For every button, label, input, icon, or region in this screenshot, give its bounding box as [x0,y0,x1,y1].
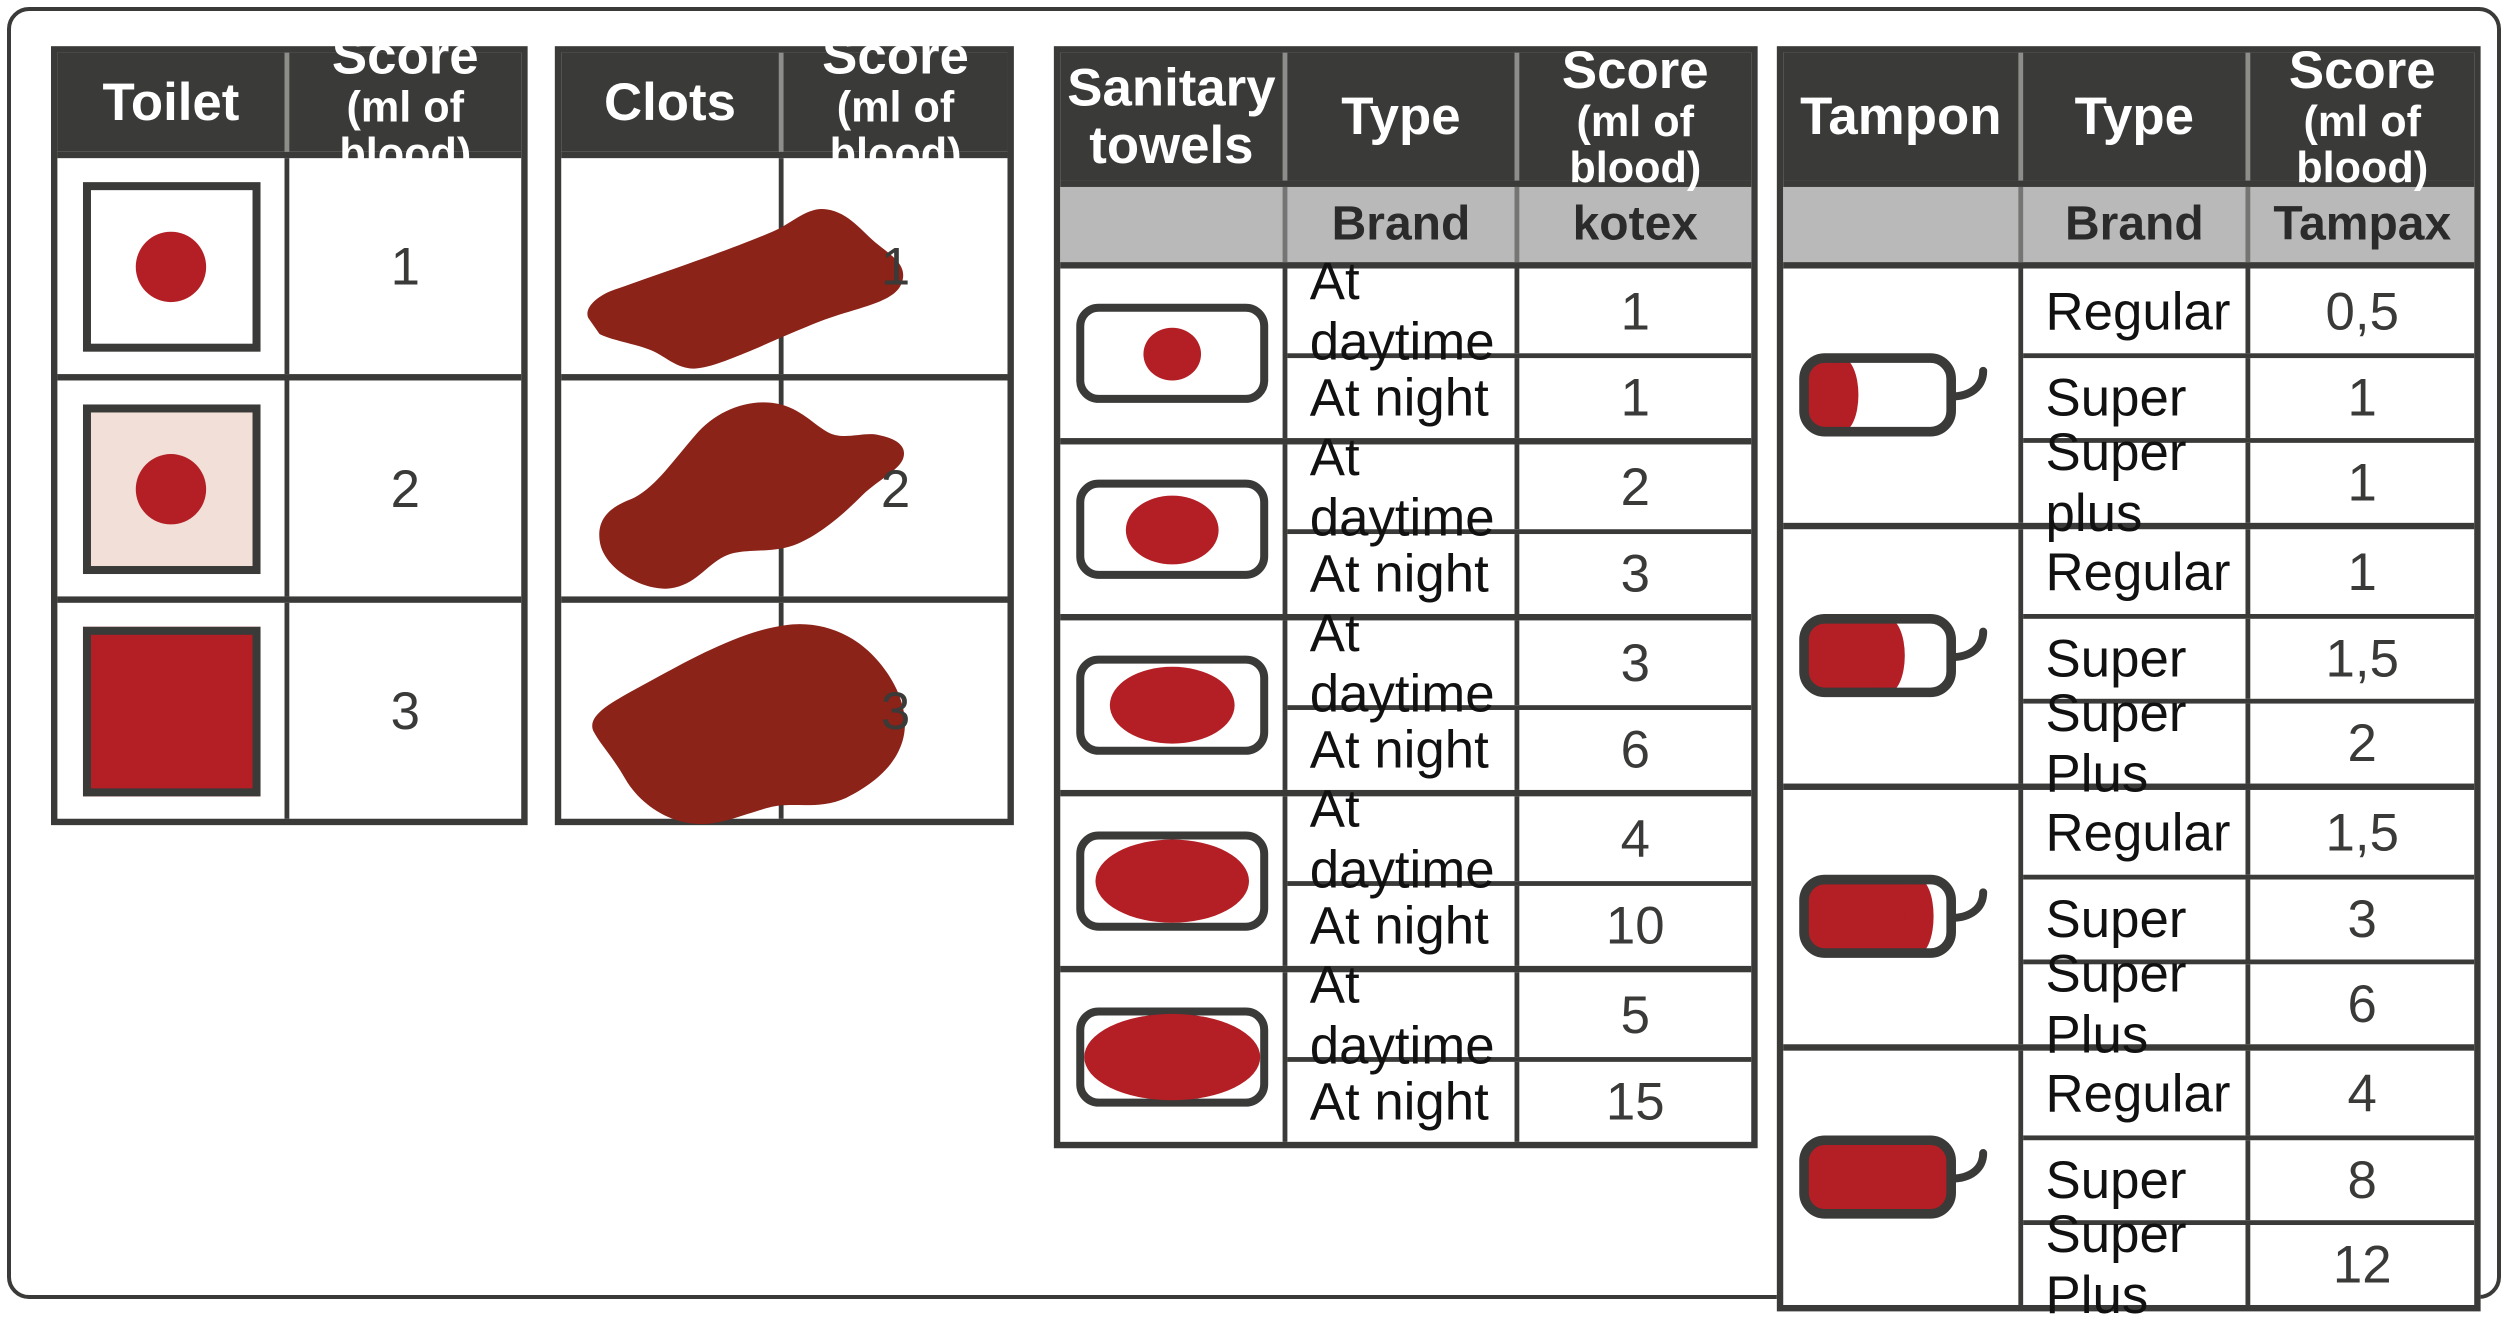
score-value: 2 [1621,456,1650,517]
score-value: 8 [2348,1150,2377,1211]
pad-icon-cell [1060,444,1287,614]
tampon-icon-cell [1783,269,2023,523]
score-value: 15 [1606,1071,1665,1132]
tampon-type-cell: Regular [2023,790,2250,875]
tampon-subheader-brand-label: Brand [2023,187,2250,262]
toilet-bowl-medium-icon [82,404,260,574]
toilet-table-body: 1 2 3 [57,152,521,819]
score-value: 1 [1621,368,1650,429]
type-value: Super [2046,628,2187,689]
table-row: At daytime 5 [1287,972,1751,1057]
tampon-score-cell: 6 [2250,964,2474,1044]
type-value: At night [1310,368,1489,429]
table-row: At night 15 [1287,1057,1751,1142]
toilet-score-cell: 2 [289,380,521,596]
tampon-level-4-icon [1797,1130,2005,1226]
score-value: 6 [2348,974,2377,1035]
score-value: 2 [881,458,910,519]
type-value: At daytime [1310,426,1515,548]
tampon-type-cell: Regular [2023,1051,2250,1136]
tampon-header-cell: Tampon [1783,53,2023,181]
towels-type-header-title: Type [1341,88,1460,145]
tampon-header-title: Tampon [1800,88,2001,145]
tampon-score-cell: 8 [2250,1140,2474,1220]
tampon-type-cell: Regular [2023,269,2250,354]
pictorial-blood-assessment-chart: Toilet Score (ml of blood) 1 [7,7,2501,1299]
tampon-level-3-icon [1797,869,2005,965]
score-value: 1 [1621,281,1650,342]
tampon-score-cell: 1 [2250,529,2474,614]
towels-table-header: Sanitary towels Type Score (ml of blood) [1060,53,1751,181]
clots-score-cell: 1 [784,158,1008,374]
towels-score-header-subtitle: (ml of blood) [1526,98,1745,191]
sanitary-pad-level-3-icon [1075,656,1267,755]
type-value: Super [2046,368,2187,429]
type-value: At night [1310,1071,1489,1132]
type-value: Super Plus [2046,683,2246,805]
table-row: 1 [561,152,1007,374]
table-row: Super Plus 2 [2023,699,2474,784]
type-value: Super Plus [2046,944,2246,1066]
toilet-icon-cell [57,603,289,819]
table-row: Regular 4 [2023,1051,2474,1136]
score-value: 5 [1621,984,1650,1045]
tampon-type-cell: Super Plus [2023,964,2250,1044]
toilet-icon-cell [57,380,289,596]
towels-type-header-cell: Type [1287,53,1519,181]
tampon-score-cell: 12 [2250,1225,2474,1305]
clots-table-header: Clots Score (ml of blood) [561,53,1007,152]
towels-type-cell: At daytime [1287,444,1519,529]
type-value: Super [2046,889,2187,950]
table-row: Regular 1,5 [2023,790,2474,875]
tampon-icon-cell [1783,529,2023,783]
toilet-icon-cell [57,158,289,374]
clot-icon-cell [561,380,783,596]
table-row: Regular 1 [2023,529,2474,614]
table-row: At daytime 1 [1287,269,1751,354]
towels-type-cell: At daytime [1287,620,1519,705]
towels-score-header-cell: Score (ml of blood) [1519,53,1751,181]
blood-blob-icon [1083,1014,1259,1100]
tampon-level-1-icon [1797,348,2005,444]
towels-score-cell: 3 [1519,534,1751,614]
towels-header-title2: towels [1089,117,1253,174]
type-value: Regular [2046,541,2231,602]
tampon-table-body: Regular 0,5 Super 1 [1783,262,2474,1305]
score-value: 3 [1621,544,1650,605]
table-row: Super plus 1 [2023,438,2474,523]
score-value: 10 [1606,896,1665,957]
table-row: 2 [57,374,521,596]
clots-score-cell: 2 [784,380,1008,596]
tampon-table-header: Tampon Type Score (ml of blood) [1783,53,2474,181]
clot-icon-cell [561,158,783,374]
score-value: 1,5 [2326,628,2399,689]
towels-score-cell: 3 [1519,620,1751,705]
towels-score-cell: 4 [1519,796,1751,881]
score-value: 1 [2348,368,2377,429]
score-value: 2 [2348,713,2377,774]
tampon-score-cell: 1 [2250,358,2474,438]
tampon-score-header-cell: Score (ml of blood) [2250,53,2474,181]
score-value: 3 [2348,889,2377,950]
tampon-type-header-cell: Type [2023,53,2250,181]
clots-table-body: 1 2 [561,152,1007,819]
score-value: 2 [391,458,420,519]
type-value: At night [1310,896,1489,957]
score-value: 1 [2348,541,2377,602]
type-value: At daytime [1310,250,1515,372]
tampon-type-cell: Super plus [2023,443,2250,523]
tampon-group: Regular 0,5 Super 1 [1783,262,2474,523]
towels-type-cell: At daytime [1287,796,1519,881]
table-row: Super Plus 12 [2023,1220,2474,1305]
towels-type-cell: At daytime [1287,269,1519,354]
score-value: 1,5 [2326,802,2399,863]
tampon-type-cell: Super Plus [2023,704,2250,784]
tampon-group: Regular 1 Super 1,5 [1783,523,2474,784]
blood-blob-icon [1143,327,1201,380]
towels-subheader-brand-value: kotex [1519,187,1751,262]
type-value: At daytime [1310,602,1515,724]
table-row: Regular 0,5 [2023,269,2474,354]
table-row: 3 [561,596,1007,818]
tampon-table: Tampon Type Score (ml of blood) Brand Ta… [1777,46,2481,1311]
toilet-table: Toilet Score (ml of blood) 1 [51,46,528,825]
tampon-score-cell: 4 [2250,1051,2474,1136]
toilet-header-cell: Toilet [57,53,289,152]
pad-icon-cell [1060,269,1287,439]
score-value: 0,5 [2326,281,2399,342]
blood-blob-icon [1109,667,1234,744]
towels-group: At daytime 4 At night 10 [1060,790,1751,966]
toilet-bowl-light-icon [82,181,260,351]
sanitary-pad-level-1-icon [1075,304,1267,403]
pad-icon-cell [1060,972,1287,1142]
score-value: 4 [1621,808,1650,869]
table-row: 3 [57,596,521,818]
clots-score-header-cell: Score (ml of blood) [784,53,1008,152]
towels-score-cell: 2 [1519,444,1751,529]
tampon-score-cell: 3 [2250,880,2474,960]
tampon-score-cell: 1,5 [2250,619,2474,699]
score-value: 1 [2348,452,2377,513]
type-value: At night [1310,720,1489,781]
tampon-glyph [1797,348,2005,444]
blood-blob-icon [1095,840,1249,923]
type-value: Regular [2046,281,2231,342]
sanitary-pad-level-4-icon [1075,832,1267,931]
tampon-score-header-subtitle: (ml of blood) [2257,98,2468,191]
towels-group: At daytime 2 At night 3 [1060,438,1751,614]
clot-icon-cell [561,603,783,819]
sanitary-towels-table: Sanitary towels Type Score (ml of blood)… [1054,46,1758,1148]
tampon-subheader-blank [1783,187,2023,262]
tampon-icon-cell [1783,1051,2023,1305]
tampon-score-cell: 1,5 [2250,790,2474,875]
blood-blob-icon [1125,495,1218,564]
towels-score-cell: 10 [1519,886,1751,966]
towels-group: At daytime 5 At night 15 [1060,966,1751,1142]
blood-dot-icon [136,231,206,301]
tampon-glyph [1797,608,2005,704]
type-value: Super plus [2046,422,2246,544]
score-value: 6 [1621,720,1650,781]
towels-subheader-blank [1060,187,1287,262]
type-value: Regular [2046,1063,2231,1124]
tampon-icon-cell [1783,790,2023,1044]
towels-score-cell: 1 [1519,269,1751,354]
towels-group: At daytime 3 At night 6 [1060,614,1751,790]
tampon-subheader-brand-value: Tampax [2250,187,2474,262]
towels-header-cell: Sanitary towels [1060,53,1287,181]
score-value: 3 [881,680,910,741]
toilet-score-cell: 1 [289,158,521,374]
table-row: 2 [561,374,1007,596]
score-value: 1 [881,236,910,297]
towels-type-cell: At daytime [1287,972,1519,1057]
sanitary-pad-level-5-icon [1075,1007,1267,1106]
toilet-bowl-heavy-icon [82,626,260,796]
score-value: 12 [2333,1235,2392,1296]
tampon-score-header-title: Score [2289,41,2436,98]
tampon-glyph [1797,869,2005,965]
type-value: At daytime [1310,778,1515,900]
table-row: At daytime 2 [1287,444,1751,529]
towels-score-cell: 5 [1519,972,1751,1057]
clots-header-title: Clots [604,74,736,131]
tampon-glyph [1797,1130,2005,1226]
towels-type-cell: At night [1287,1062,1519,1142]
toilet-score-header-title: Score [332,27,479,84]
tampon-subheader-row: Brand Tampax [1783,181,2474,263]
pad-icon-cell [1060,620,1287,790]
tampon-score-cell: 1 [2250,443,2474,523]
score-value: 1 [391,236,420,297]
tampon-level-2-icon [1797,608,2005,704]
clots-table: Clots Score (ml of blood) 1 [555,46,1014,825]
pad-icon-cell [1060,796,1287,966]
tampon-score-cell: 2 [2250,704,2474,784]
towels-group: At daytime 1 At night 1 [1060,262,1751,438]
clots-score-cell: 3 [784,603,1008,819]
towels-score-cell: 1 [1519,358,1751,438]
towels-score-cell: 15 [1519,1062,1751,1142]
type-value: At daytime [1310,954,1515,1076]
type-value: Regular [2046,802,2231,863]
toilet-score-header-cell: Score (ml of blood) [289,53,521,152]
table-row: At daytime 4 [1287,796,1751,881]
tampon-group: Regular 4 Super 8 [1783,1044,2474,1305]
blood-dot-icon [136,453,206,523]
tampon-type-header-title: Type [2075,88,2194,145]
tampon-group: Regular 1,5 Super 3 [1783,784,2474,1045]
towels-score-cell: 6 [1519,710,1751,790]
toilet-table-header: Toilet Score (ml of blood) [57,53,521,152]
type-value: Super Plus [2046,1204,2246,1326]
towels-header-title: Sanitary [1067,60,1275,117]
table-row: Super Plus 6 [2023,959,2474,1044]
tampon-score-cell: 0,5 [2250,269,2474,354]
sanitary-pad-level-2-icon [1075,480,1267,579]
clots-header-cell: Clots [561,53,783,152]
type-value: Super [2046,1150,2187,1211]
score-value: 4 [2348,1063,2377,1124]
toilet-header-title: Toilet [103,74,240,131]
tampon-type-cell: Regular [2023,529,2250,614]
score-value: 3 [1621,632,1650,693]
table-row: At daytime 3 [1287,620,1751,705]
score-value: 3 [391,680,420,741]
towels-table-body: At daytime 1 At night 1 [1060,262,1751,1142]
toilet-score-cell: 3 [289,603,521,819]
clots-score-header-title: Score [822,27,969,84]
type-value: At night [1310,544,1489,605]
table-row: 1 [57,152,521,374]
tampon-type-cell: Super Plus [2023,1225,2250,1305]
towels-score-header-title: Score [1562,41,1709,98]
